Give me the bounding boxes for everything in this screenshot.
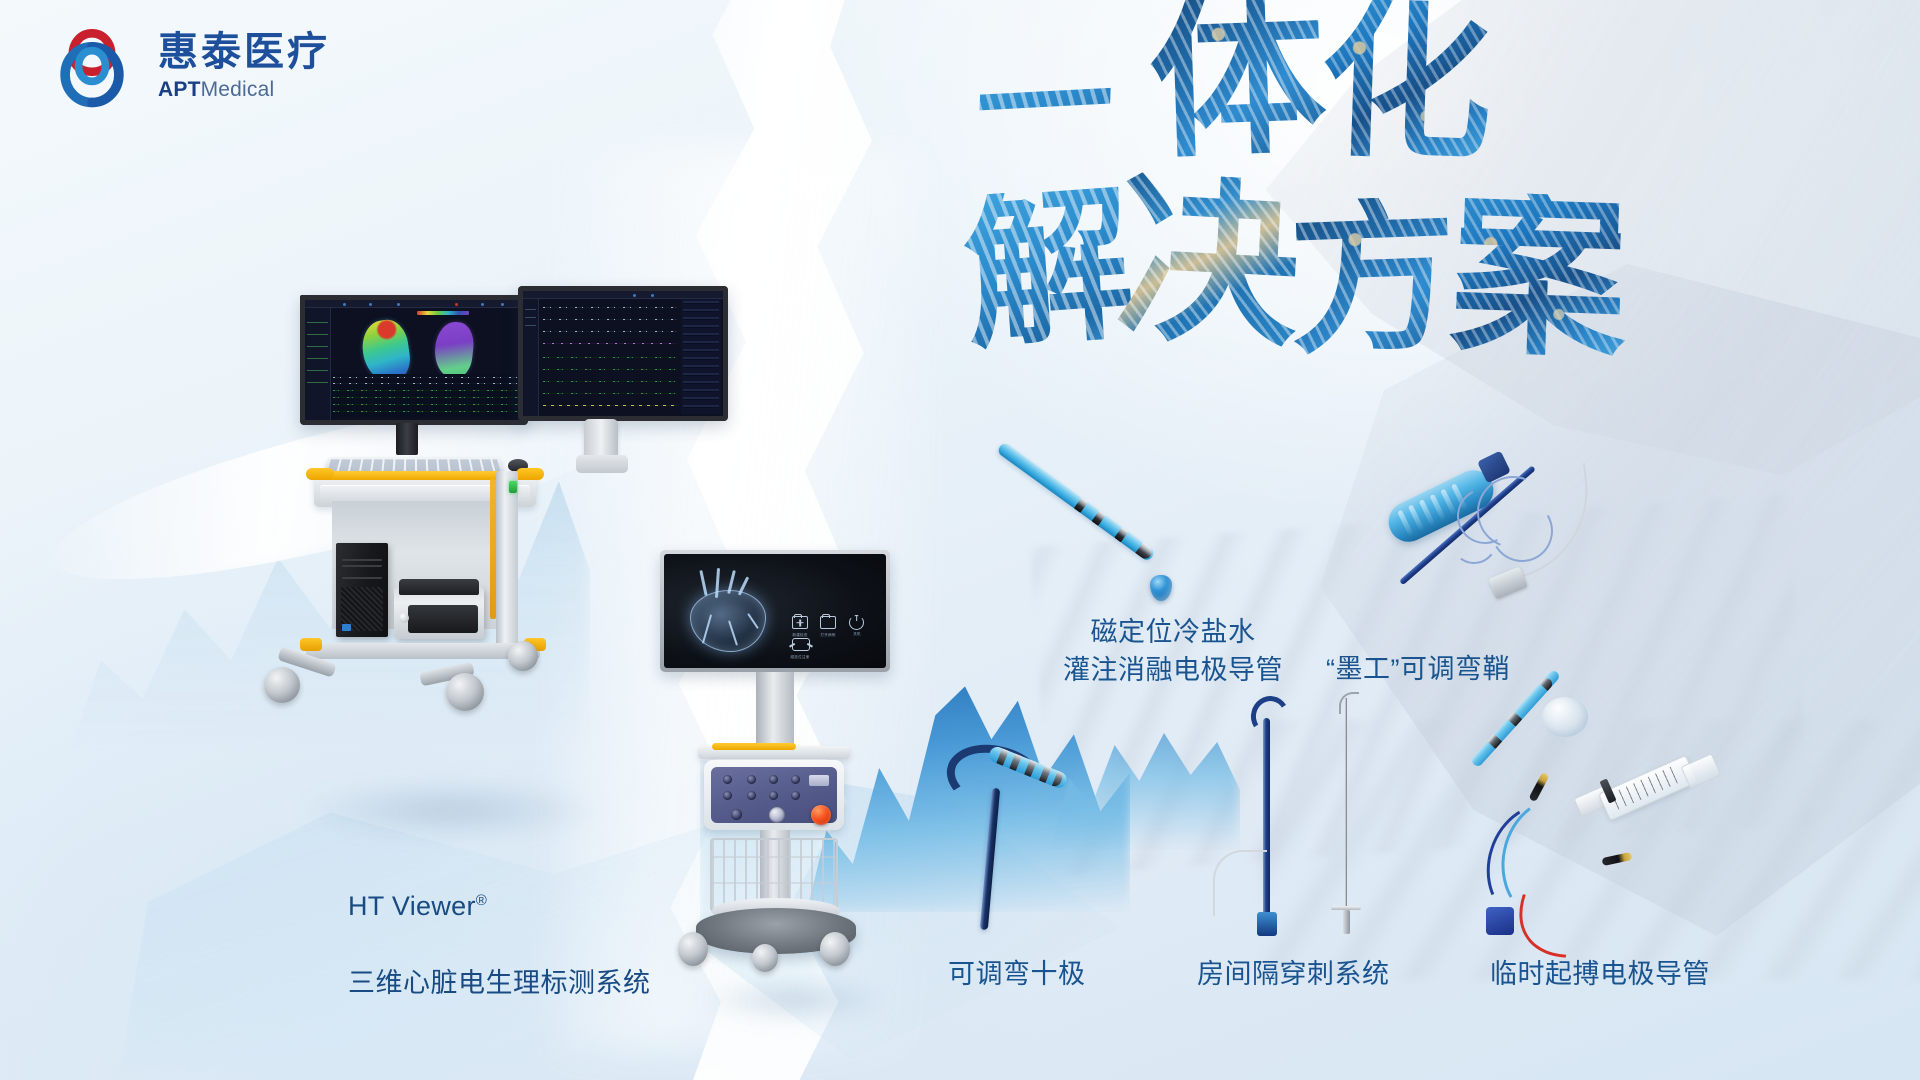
caster-front-left [264, 667, 300, 703]
transseptal-needle-handle[interactable] [1343, 910, 1350, 934]
registration-caption: 磁定位注册 [780, 655, 820, 660]
cardiac-map-voltage [432, 320, 476, 380]
transseptal-needle-tip-curve [1339, 692, 1359, 714]
ablation-electrode-3 [1114, 527, 1128, 542]
promotional-banner: 惠泰医疗 APTMedical 一 体 化 解 决 方 案 [0, 0, 1920, 1080]
generator-main-connector[interactable] [769, 807, 785, 823]
headline-char-5: 决 [1113, 171, 1304, 351]
cart-power-led [509, 481, 517, 493]
console-shelf [698, 746, 850, 759]
caster-front-right [446, 673, 484, 711]
generator-port-5[interactable] [769, 775, 778, 784]
cart2-caster-front [752, 944, 778, 972]
transseptal-label: 房间隔穿刺系统 [1197, 955, 1390, 993]
steerable-decapolar-catheter[interactable] [940, 730, 1100, 930]
apt-medical-heart-logo-icon [44, 18, 140, 114]
transseptal-side-port-line [1213, 850, 1267, 916]
logo-text-en: APTMedical [158, 78, 330, 101]
rf-generator[interactable] [704, 760, 844, 830]
transseptal-needle-shaft [1345, 698, 1347, 910]
pacing-ring-electrode-1 [1507, 712, 1522, 727]
mapping-console-cart[interactable]: 新建检查 打开病例 关机 磁定位注册 [660, 550, 920, 1030]
generator-port-7[interactable] [791, 775, 800, 784]
ablation-irrigation-droplet [1150, 575, 1172, 601]
ecg-measurement-table [681, 299, 721, 414]
transseptal-sheath-hub[interactable] [1257, 912, 1277, 936]
pc-badge [342, 624, 351, 631]
magnetic-irrigated-ablation-catheter[interactable] [1000, 440, 1190, 610]
ht-viewer-label-cn: 三维心脏电生理标测系统 [348, 964, 651, 1002]
cart-column-accent [490, 479, 496, 619]
generator-ground-port[interactable] [731, 809, 742, 820]
open-folder-icon[interactable]: 打开病例 [820, 616, 836, 629]
printer-output-tray [408, 605, 478, 633]
headline-calligraphy: 一 体 化 解 决 方 案 [975, 40, 1675, 370]
mapping-monitor[interactable] [300, 295, 528, 425]
headline-char-2: 体 [1147, 0, 1329, 162]
decapolar-electrode-3 [1024, 760, 1036, 777]
generator-start-button[interactable] [811, 805, 831, 825]
decapolar-electrode-2 [1009, 754, 1021, 771]
ecg-monitor-arm [584, 419, 618, 459]
transseptal-puncture-system[interactable] [1235, 690, 1405, 940]
pacing-catheter-label: 临时起搏电极导管 [1490, 955, 1710, 993]
generator-label-plate [809, 775, 829, 786]
cart-base [306, 643, 540, 659]
mapping-ecg-strip [331, 374, 521, 418]
mapping-toolbar [305, 300, 523, 308]
ecg-toolbar [523, 291, 723, 299]
ht-viewer-label-en: HT Viewer® [348, 887, 651, 925]
transseptal-sheath-tip-curve [1247, 692, 1292, 739]
pacing-balloon [1542, 697, 1588, 737]
caster-rear-right [508, 641, 538, 671]
ablation-electrode-2 [1092, 511, 1106, 526]
pacing-catheter-hub[interactable] [1486, 907, 1514, 935]
cart2-caster-right [820, 932, 850, 966]
cart-column [496, 471, 518, 647]
generator-port-8[interactable] [791, 791, 800, 800]
logo-text-apt: APT [158, 78, 201, 101]
ablation-catheter-label: 磁定位冷盐水 灌注消融电极导管 [1063, 613, 1283, 690]
cart-base-cap-left [300, 638, 322, 651]
console-display-screen: 新建检查 打开病例 关机 磁定位注册 [664, 554, 886, 668]
pacing-ring-electrode-2 [1487, 734, 1502, 749]
decapolar-electrode-1 [996, 748, 1008, 765]
power-caption: 关机 [837, 632, 877, 637]
brand-logo[interactable]: 惠泰医疗 APTMedical [44, 18, 330, 114]
pc-tower[interactable] [336, 543, 388, 637]
generator-port-1[interactable] [723, 775, 732, 784]
cart-worktop-cap-right [516, 468, 544, 480]
logo-text-medical: Medical [201, 78, 275, 101]
ecg-monitor-screen [523, 291, 723, 416]
generator-port-6[interactable] [769, 791, 778, 800]
temporary-pacing-catheter[interactable] [1480, 675, 1750, 940]
ecg-channel-list [523, 299, 539, 416]
new-study-icon[interactable]: 新建检查 [792, 616, 808, 629]
generator-port-2[interactable] [723, 791, 732, 800]
headline-char-6: 方 [1286, 195, 1460, 372]
ecg-waveforms [541, 301, 679, 414]
cart-body [318, 501, 532, 651]
generator-port-4[interactable] [747, 791, 756, 800]
ablation-electrode-1 [1074, 498, 1088, 513]
cart2-caster-left [678, 932, 708, 966]
ht-viewer-label: HT Viewer® 三维心脏电生理标测系统 [348, 849, 651, 1041]
printer-top-cover [399, 579, 479, 595]
mapping-side-panel [305, 308, 331, 420]
console-display[interactable]: 新建检查 打开病例 关机 磁定位注册 [660, 550, 890, 672]
console-display-post [756, 672, 794, 748]
logo-text-cn: 惠泰医疗 [158, 31, 330, 74]
mogong-steerable-sheath[interactable] [1395, 430, 1645, 620]
headline-char-4: 解 [959, 184, 1139, 366]
decapolar-electrode-4 [1039, 766, 1051, 783]
headline-char-7: 案 [1448, 191, 1630, 368]
power-icon[interactable]: 关机 [849, 615, 864, 630]
console-shelf-handle[interactable] [712, 743, 796, 750]
headline-char-3: 化 [1318, 0, 1496, 168]
printer[interactable] [394, 587, 484, 639]
pacing-tip-electrode [1540, 676, 1555, 691]
generator-port-3[interactable] [747, 775, 756, 784]
ablation-tip-electrode [1135, 542, 1154, 561]
mapping-colorbar [417, 311, 469, 315]
rf-generator-panel [711, 767, 837, 823]
ecg-monitor[interactable] [518, 286, 728, 421]
heart-anatomy-graphic [676, 568, 786, 656]
ablation-catheter-shaft [996, 441, 1156, 562]
cart-worktop-cap-left [306, 468, 334, 480]
sheath-stopcock[interactable] [1488, 566, 1528, 599]
decapolar-label: 可调弯十极 [948, 955, 1086, 993]
registration-icon[interactable]: 磁定位注册 [792, 638, 810, 651]
printer-power-button[interactable] [399, 613, 409, 623]
mapping-monitor-screen [305, 300, 523, 420]
ecg-monitor-arm-joint [576, 455, 628, 473]
mapping-monitor-stand [396, 423, 418, 455]
decapolar-tip-electrode [1052, 771, 1064, 788]
